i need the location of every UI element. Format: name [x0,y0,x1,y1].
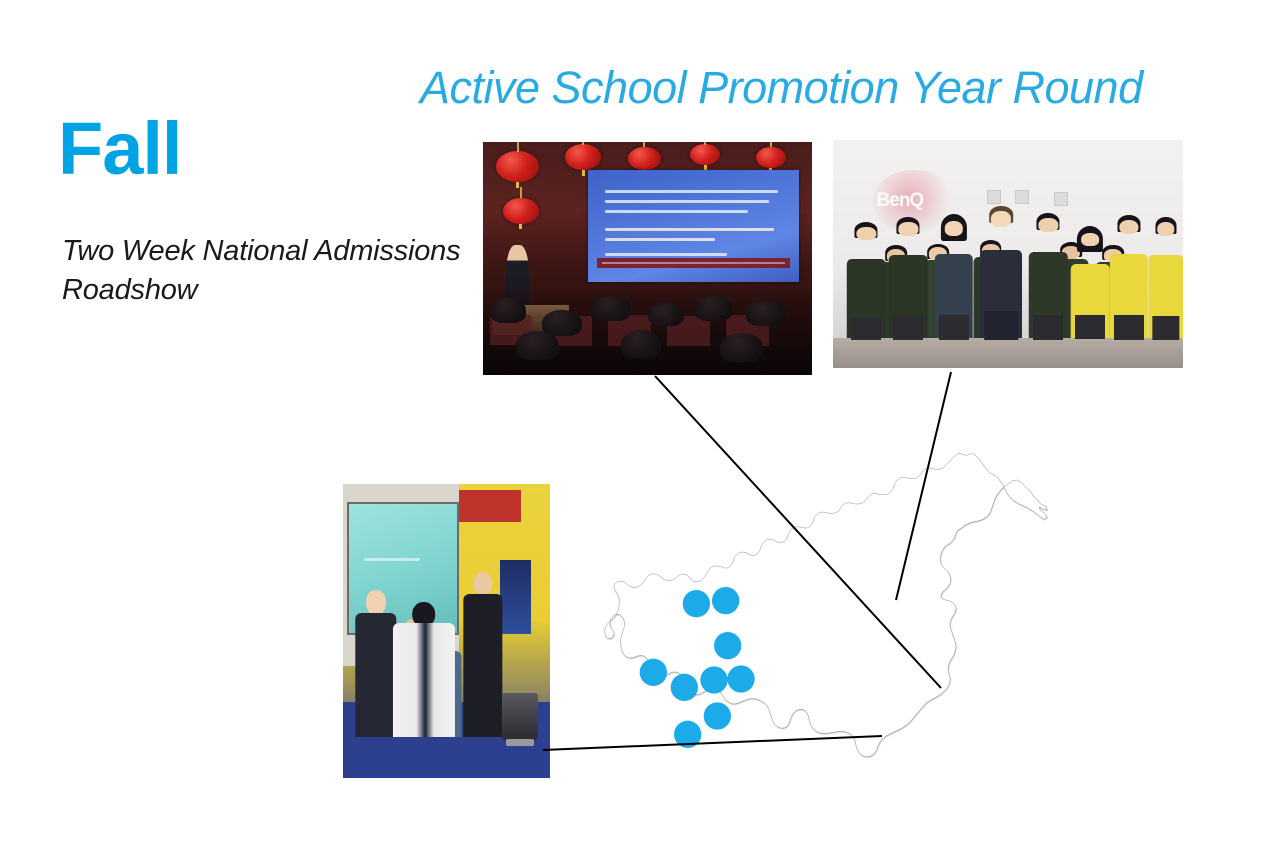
city-dot-shanghai[interactable] [727,665,754,692]
photo-classroom-discussion [343,484,550,778]
city-dot-tianjin[interactable] [712,587,739,614]
photo-student-group: BenQ [833,140,1183,368]
season-heading: Fall [58,112,181,186]
student-figure [463,572,502,737]
student-figure [1110,218,1149,339]
wall-logo-text: BenQ [877,190,924,212]
student-figure [1071,229,1110,338]
city-dot-chengdu[interactable] [640,659,667,686]
city-dot-guangzhou[interactable] [704,702,731,729]
student-figure [847,224,886,338]
audience-area [483,291,812,375]
china-map-svg [600,430,1080,810]
china-map [600,430,1080,810]
robot-model [502,693,537,740]
student-figure [935,218,974,339]
classroom-poster [500,560,531,634]
group-floor [833,338,1183,368]
projection-screen [588,170,799,282]
city-dot-wuhan[interactable] [700,666,727,693]
student-figure [889,220,928,339]
photo-auditorium-presentation [483,142,812,375]
presentation-slide: Active School Promotion Year Round Fall … [0,0,1265,855]
city-dot-shenzhen[interactable] [674,721,701,748]
city-dot-qingdao[interactable] [714,632,741,659]
season-subtitle: Two Week National Admissions Roadshow [62,232,462,310]
student-figure [1148,220,1183,339]
city-dot-changsha[interactable] [671,674,698,701]
china-outline-path [605,453,1048,756]
seated-student-figure [393,602,455,737]
lantern-icon [503,198,539,224]
lantern-icon [496,151,539,181]
student-figure [1029,215,1068,338]
city-dot-beijing[interactable] [683,590,710,617]
presenter-figure [355,590,396,737]
lantern-icon [628,147,661,170]
lantern-icon [756,147,786,168]
slide-title: Active School Promotion Year Round [420,62,1190,114]
classroom-red-panel [459,490,521,522]
admissions-rep-figure [980,208,1022,338]
